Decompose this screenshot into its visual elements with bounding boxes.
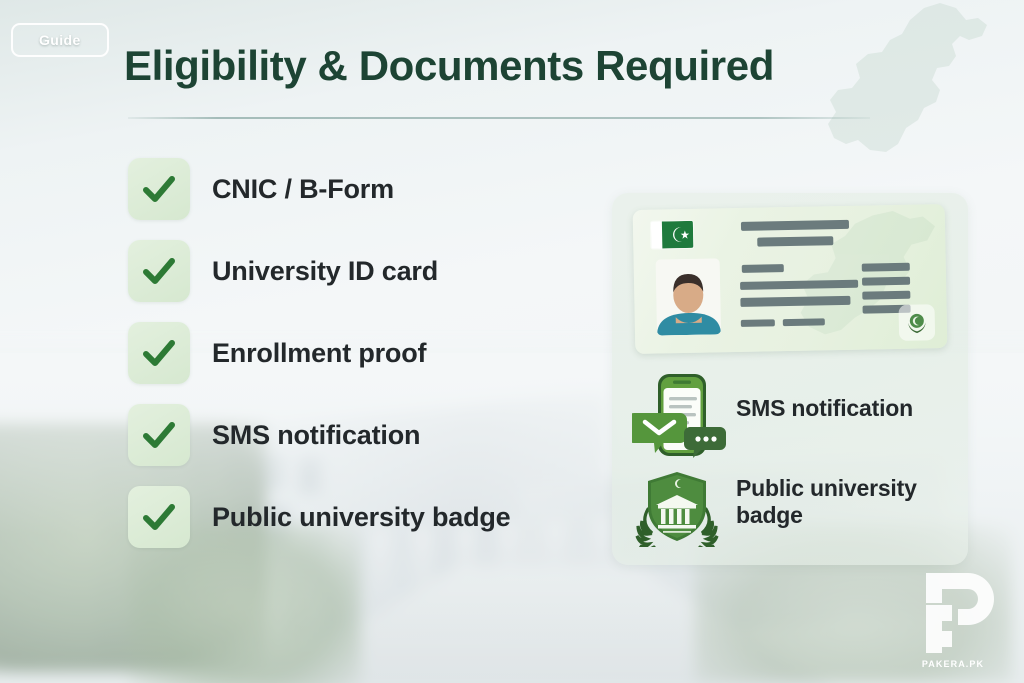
pakistan-flag-icon [651,221,694,249]
visual-panel: SMS notification Public university badge [612,193,968,565]
check-icon [128,322,190,384]
list-item-label: CNIC / B-Form [212,174,394,205]
card-text-bar [862,291,910,300]
requirements-checklist: CNIC / B-Form University ID card Enrollm… [128,148,598,558]
list-item-label: Enrollment proof [212,338,426,369]
university-shield-icon [634,469,720,547]
list-item: University ID card [128,230,598,312]
pakistan-map-watermark [806,0,1016,184]
infographic-canvas: Guide Eligibility & Documents Required C… [0,0,1024,683]
page-title: Eligibility & Documents Required [124,42,914,89]
list-item: Enrollment proof [128,312,598,394]
pakistan-emblem-icon [899,304,936,341]
list-item-label: University ID card [212,256,438,287]
person-portrait-icon [656,258,721,335]
list-item: Public university badge [128,476,598,558]
card-text-bar [862,263,910,272]
guide-badge: Guide [11,23,109,57]
pakera-logo-icon [900,565,1006,671]
list-item: SMS notification [128,394,598,476]
watermark-label: PAKERA.PK [900,659,1006,669]
badge-label: Public university badge [736,475,958,529]
id-card-illustration [633,204,948,354]
card-text-bar [862,277,910,286]
sms-feature-row: SMS notification [624,365,960,463]
list-item-label: SMS notification [212,420,420,451]
check-icon [128,240,190,302]
list-item: CNIC / B-Form [128,148,598,230]
card-text-bar [757,236,833,246]
title-divider [128,117,870,119]
check-icon [128,404,190,466]
card-text-bar [741,319,775,327]
badge-feature-row: Public university badge [624,465,960,551]
phone-sms-icon [632,371,728,459]
card-text-bar [742,264,784,273]
check-icon [128,486,190,548]
check-icon [128,158,190,220]
list-item-label: Public university badge [212,502,510,533]
sms-label: SMS notification [736,395,913,422]
card-text-bar [783,318,825,326]
